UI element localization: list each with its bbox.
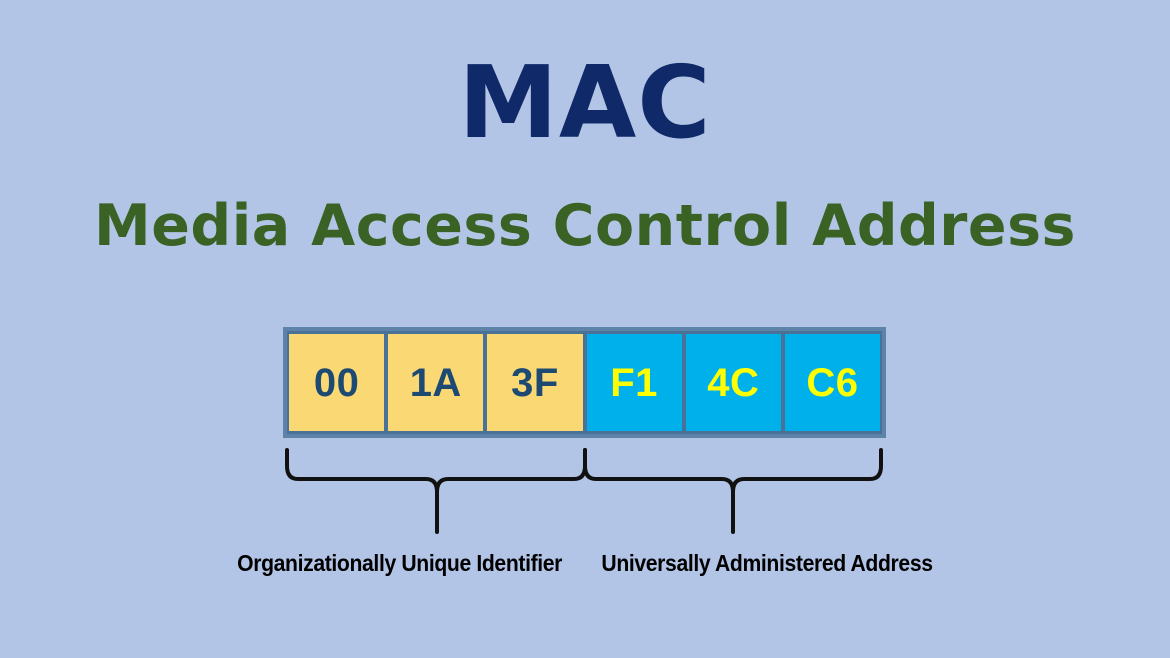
- mac-octet-1: 00: [289, 334, 384, 431]
- mac-octet-6-value: C6: [806, 363, 858, 403]
- brace-uaa: [585, 450, 881, 532]
- mac-octet-4: F1: [587, 334, 682, 431]
- group-labels: Organizationally Unique Identifier Unive…: [0, 548, 1170, 578]
- page-subtitle: Media Access Control Address: [0, 190, 1170, 262]
- mac-octet-3-value: 3F: [511, 363, 559, 403]
- label-oui: Organizationally Unique Identifier: [238, 548, 563, 578]
- mac-address-strip: 00 1A 3F F1 4C C6: [283, 327, 886, 438]
- slide-canvas: MAC Media Access Control Address 00 1A 3…: [0, 0, 1170, 658]
- page-title: MAC: [0, 48, 1170, 158]
- mac-octet-2-value: 1A: [410, 363, 462, 403]
- mac-octet-5-value: 4C: [707, 363, 759, 403]
- mac-octet-4-value: F1: [610, 363, 658, 403]
- label-uaa: Universally Administered Address: [601, 548, 932, 578]
- brace-oui: [287, 450, 585, 532]
- mac-octet-1-value: 00: [314, 363, 360, 403]
- mac-octet-6: C6: [785, 334, 880, 431]
- mac-octet-5: 4C: [686, 334, 781, 431]
- mac-octet-2: 1A: [388, 334, 483, 431]
- mac-octet-3: 3F: [487, 334, 582, 431]
